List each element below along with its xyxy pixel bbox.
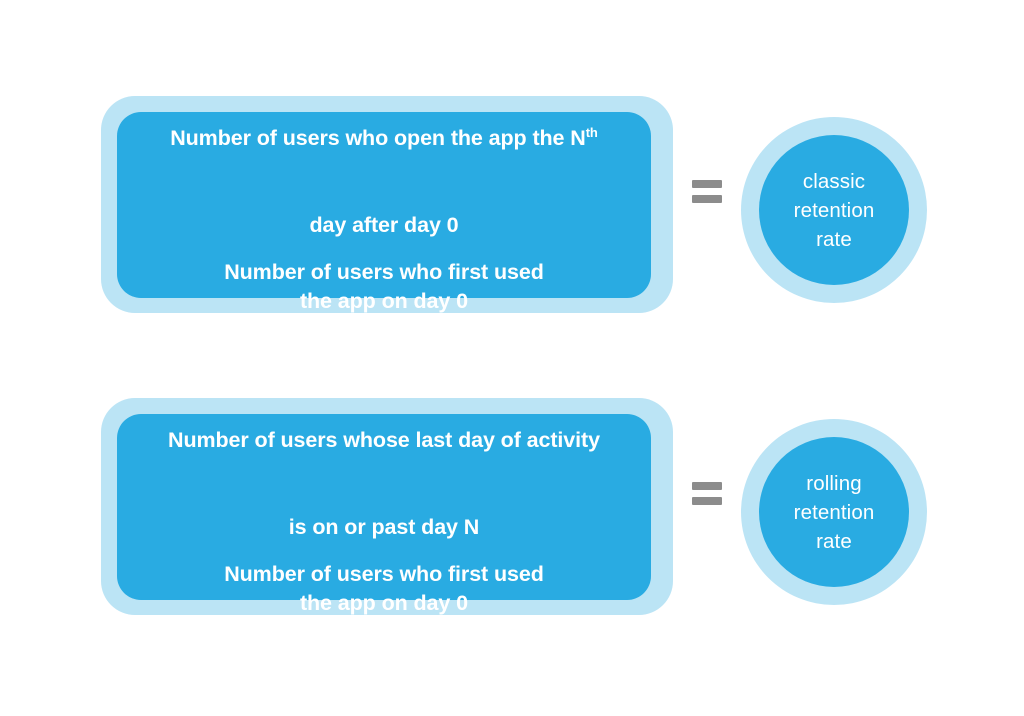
result-label-classic: classic retention rate — [794, 167, 875, 254]
result-circle-classic: classic retention rate — [741, 117, 927, 303]
equals-sign-rolling — [692, 482, 722, 509]
result-circle-rolling: rolling retention rate — [741, 419, 927, 605]
fraction-panel-rolling: Number of users whose last day of activi… — [117, 414, 651, 600]
fraction-panel-classic: Number of users who open the app the Nth… — [117, 112, 651, 298]
numerator-superscript: th — [586, 124, 598, 139]
fraction-denominator-classic: Number of users who first used the app o… — [224, 258, 544, 316]
fraction-card-rolling: Number of users whose last day of activi… — [101, 398, 673, 615]
equals-bar-top — [692, 482, 722, 490]
result-circle-inner-rolling: rolling retention rate — [759, 437, 909, 587]
result-circle-inner-classic: classic retention rate — [759, 135, 909, 285]
fraction-numerator-classic: Number of users who open the app the Nth… — [170, 95, 598, 240]
equals-bar-bottom — [692, 497, 722, 505]
numerator-line-1: Number of users whose last day of activi… — [168, 428, 600, 452]
equals-bar-bottom — [692, 195, 722, 203]
fraction-denominator-rolling: Number of users who first used the app o… — [224, 560, 544, 618]
equals-sign-classic — [692, 180, 722, 207]
fraction-numerator-rolling: Number of users whose last day of activi… — [168, 397, 600, 542]
fraction-card-classic: Number of users who open the app the Nth… — [101, 96, 673, 313]
numerator-line-1: Number of users who open the app the N — [170, 126, 585, 150]
numerator-line-2: day after day 0 — [309, 213, 458, 237]
diagram-canvas: Number of users who open the app the Nth… — [0, 0, 1024, 716]
result-label-rolling: rolling retention rate — [794, 469, 875, 556]
equals-bar-top — [692, 180, 722, 188]
numerator-line-2: is on or past day N — [289, 515, 479, 539]
